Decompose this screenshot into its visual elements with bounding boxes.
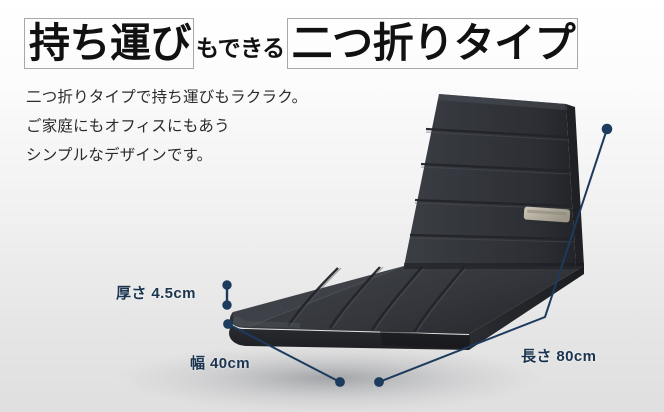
headline-plain-also: もできる: [194, 37, 287, 69]
body-line-2: ご家庭にもオフィスにもあう: [26, 112, 307, 141]
dimension-label-width: 幅 40cm: [190, 352, 250, 373]
body-line-1: 二つ折りタイプで持ち運びもラクラク。: [26, 83, 307, 112]
dimension-label-length: 長さ 80cm: [521, 345, 596, 366]
headline-boxed-foldable: 二つ折りタイプ: [287, 18, 579, 69]
body-line-3: シンプルなデザインです。: [26, 141, 307, 170]
product-seat: [229, 266, 584, 350]
dimension-label-thickness: 厚さ 4.5cm: [116, 282, 196, 303]
product-backrest: [404, 94, 584, 268]
body-copy: 二つ折りタイプで持ち運びもラクラク。 ご家庭にもオフィスにもあう シンプルなデザ…: [26, 83, 307, 170]
promo-banner: 持ち運び もできる 二つ折りタイプ 二つ折りタイプで持ち運びもラクラク。 ご家庭…: [0, 0, 664, 412]
headline: 持ち運び もできる 二つ折りタイプ: [24, 18, 578, 69]
headline-boxed-carry: 持ち運び: [24, 18, 194, 69]
product-shadow: [115, 344, 545, 412]
